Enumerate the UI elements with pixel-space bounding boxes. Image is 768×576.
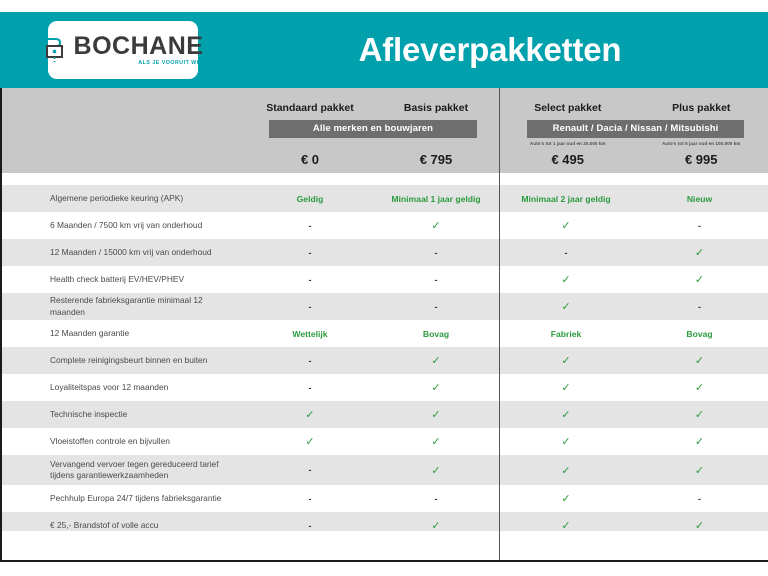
group-divider [499, 88, 500, 562]
dash-icon: - [435, 494, 438, 504]
table-cell: ✓ [499, 464, 633, 477]
price-select: € 495 [501, 152, 635, 167]
table-row: 12 Maanden / 15000 km vrij van onderhoud… [0, 239, 768, 266]
table-cell: ✓ [633, 408, 766, 421]
table-cell: ✓ [247, 435, 373, 448]
check-icon: ✓ [695, 247, 704, 259]
table-cell: - [247, 494, 373, 504]
row-label: 12 Maanden / 15000 km vrij van onderhoud [0, 247, 247, 258]
row-label: Vervangend vervoer tegen gereduceerd tar… [0, 459, 247, 482]
table-cell: - [373, 275, 499, 285]
table-cell: ✓ [247, 408, 373, 421]
check-icon: ✓ [695, 436, 704, 448]
table-cell: - [633, 494, 766, 504]
logo-wordmark: BOCHANE [74, 34, 204, 59]
table-row: Resterende fabrieksgarantie minimaal 12 … [0, 293, 768, 320]
table-cell: Nieuw [633, 194, 766, 204]
table-cell: Minimaal 1 jaar geldig [373, 194, 499, 204]
row-label: Resterende fabrieksgarantie minimaal 12 … [0, 295, 247, 318]
table-cell: ✓ [633, 246, 766, 259]
bochane-logo: BOCHANE ALS JE VOORUIT WIL [48, 21, 198, 79]
table-cell: Bovag [633, 329, 766, 339]
table-cell: ✓ [499, 300, 633, 313]
check-icon: ✓ [695, 465, 704, 477]
column-title-select: Select pakket [501, 102, 635, 114]
check-icon: ✓ [561, 355, 570, 367]
price-basis: € 795 [373, 152, 499, 167]
column-sub-select: Auto's tot 1 jaar oud en 20.000 km [501, 141, 635, 146]
dash-icon: - [309, 521, 312, 531]
table-left-border [0, 88, 2, 562]
table-cell: - [247, 248, 373, 258]
group-badge-renault: Renault / Dacia / Nissan / Mitsubishi [527, 120, 744, 138]
dash-icon: - [309, 465, 312, 475]
table-cell: - [247, 465, 373, 475]
check-icon: ✓ [695, 274, 704, 286]
table-cell: ✓ [499, 492, 633, 505]
table-cell: - [373, 248, 499, 258]
table-cell: ✓ [373, 408, 499, 421]
check-icon: ✓ [695, 409, 704, 421]
dash-icon: - [435, 302, 438, 312]
row-label: Complete reinigingsbeurt binnen en buite… [0, 355, 247, 366]
dash-icon: - [309, 383, 312, 393]
table-cell: ✓ [373, 464, 499, 477]
dash-icon: - [309, 275, 312, 285]
table-cell: Bovag [373, 329, 499, 339]
top-banner: BOCHANE ALS JE VOORUIT WIL Afleverpakket… [0, 12, 768, 88]
table-row: 6 Maanden / 7500 km vrij van onderhoud-✓… [0, 212, 768, 239]
table-cell: - [247, 302, 373, 312]
column-header-band: Standaard pakket Basis pakket Alle merke… [0, 88, 768, 173]
table-cell: ✓ [633, 273, 766, 286]
table-row: Loyaliteitspas voor 12 maanden-✓✓✓ [0, 374, 768, 401]
check-icon: ✓ [431, 220, 440, 232]
row-label: 6 Maanden / 7500 km vrij van onderhoud [0, 220, 247, 231]
price-plus: € 995 [635, 152, 768, 167]
dash-icon: - [309, 356, 312, 366]
check-icon: ✓ [561, 382, 570, 394]
page-title: Afleverpakketten [212, 12, 768, 88]
table-row: Health check batterij EV/HEV/PHEV--✓✓ [0, 266, 768, 293]
table-cell: - [633, 221, 766, 231]
dash-icon: - [698, 494, 701, 504]
dash-icon: - [309, 494, 312, 504]
table-cell: Minimaal 2 jaar geldig [499, 194, 633, 204]
table-row: Algemene periodieke keuring (APK)GeldigM… [0, 185, 768, 212]
column-title-standaard: Standaard pakket [247, 102, 373, 114]
table-cell: ✓ [373, 435, 499, 448]
table-cell: Wettelijk [247, 329, 373, 339]
table-cell: ✓ [499, 381, 633, 394]
table-cell: - [247, 383, 373, 393]
row-label: Health check batterij EV/HEV/PHEV [0, 274, 247, 285]
column-sub-plus: Auto's tot 5 jaar oud en 100.000 km [635, 141, 768, 146]
table-cell: Geldig [247, 194, 373, 204]
dash-icon: - [309, 248, 312, 258]
table-cell: - [633, 302, 766, 312]
table-cell: ✓ [633, 464, 766, 477]
check-icon: ✓ [561, 493, 570, 505]
column-title-plus: Plus pakket [635, 102, 768, 114]
table-cell: ✓ [499, 219, 633, 232]
table-row: Technische inspectie✓✓✓✓ [0, 401, 768, 428]
package-group-all-brands: Standaard pakket Basis pakket Alle merke… [247, 88, 499, 173]
table-cell: - [247, 356, 373, 366]
row-label: Technische inspectie [0, 409, 247, 420]
table-cell: - [373, 494, 499, 504]
table-row: 12 Maanden garantieWettelijkBovagFabriek… [0, 320, 768, 347]
table-row: Complete reinigingsbeurt binnen en buite… [0, 347, 768, 374]
comparison-table: Algemene periodieke keuring (APK)GeldigM… [0, 173, 768, 539]
dash-icon: - [698, 221, 701, 231]
dash-icon: - [565, 248, 568, 258]
check-icon: ✓ [561, 301, 570, 313]
check-icon: ✓ [561, 220, 570, 232]
check-icon: ✓ [561, 436, 570, 448]
dash-icon: - [309, 221, 312, 231]
check-icon: ✓ [431, 382, 440, 394]
table-cell: ✓ [499, 354, 633, 367]
table-cell: - [247, 275, 373, 285]
price-standaard: € 0 [247, 152, 373, 167]
table-row: Vervangend vervoer tegen gereduceerd tar… [0, 455, 768, 485]
table-cell: ✓ [633, 381, 766, 394]
check-icon: ✓ [431, 465, 440, 477]
table-cell: - [499, 248, 633, 258]
table-row: Vloeistoffen controle en bijvullen✓✓✓✓ [0, 428, 768, 455]
table-cell: ✓ [373, 381, 499, 394]
group-badge-all-brands: Alle merken en bouwjaren [269, 120, 477, 138]
table-cell: Fabriek [499, 329, 633, 339]
row-label: Algemene periodieke keuring (APK) [0, 193, 247, 204]
table-footer-space [0, 531, 768, 560]
table-cell: ✓ [499, 435, 633, 448]
check-icon: ✓ [431, 409, 440, 421]
table-cell: - [247, 221, 373, 231]
table-cell: ✓ [499, 273, 633, 286]
afleverpakketten-page: BOCHANE ALS JE VOORUIT WIL Afleverpakket… [0, 0, 768, 576]
table-row: Pechhulp Europa 24/7 tijdens fabrieksgar… [0, 485, 768, 512]
logo-tagline: ALS JE VOORUIT WIL [138, 61, 202, 66]
check-icon: ✓ [305, 409, 314, 421]
table-cell: - [373, 302, 499, 312]
table-cell: ✓ [633, 435, 766, 448]
row-label: Loyaliteitspas voor 12 maanden [0, 382, 247, 393]
table-top-gap [0, 173, 768, 185]
row-label: € 25,- Brandstof of volle accu [0, 520, 247, 531]
row-label: Vloeistoffen controle en bijvullen [0, 436, 247, 447]
table-cell: ✓ [499, 408, 633, 421]
check-icon: ✓ [561, 465, 570, 477]
row-label: 12 Maanden garantie [0, 328, 247, 339]
table-cell: ✓ [373, 354, 499, 367]
check-icon: ✓ [695, 355, 704, 367]
dash-icon: - [435, 275, 438, 285]
row-label: Pechhulp Europa 24/7 tijdens fabrieksgar… [0, 493, 247, 504]
column-title-basis: Basis pakket [373, 102, 499, 114]
table-cell: ✓ [373, 219, 499, 232]
check-icon: ✓ [305, 436, 314, 448]
check-icon: ✓ [431, 436, 440, 448]
table-cell: ✓ [633, 354, 766, 367]
bochane-logo-mark [43, 35, 69, 65]
dash-icon: - [309, 302, 312, 312]
check-icon: ✓ [695, 382, 704, 394]
check-icon: ✓ [561, 409, 570, 421]
package-group-renault: Select pakket Plus pakket Renault / Daci… [501, 88, 768, 173]
dash-icon: - [698, 302, 701, 312]
dash-icon: - [435, 248, 438, 258]
table-bottom-border [0, 560, 768, 562]
table-cell: - [247, 521, 373, 531]
check-icon: ✓ [561, 274, 570, 286]
check-icon: ✓ [431, 355, 440, 367]
